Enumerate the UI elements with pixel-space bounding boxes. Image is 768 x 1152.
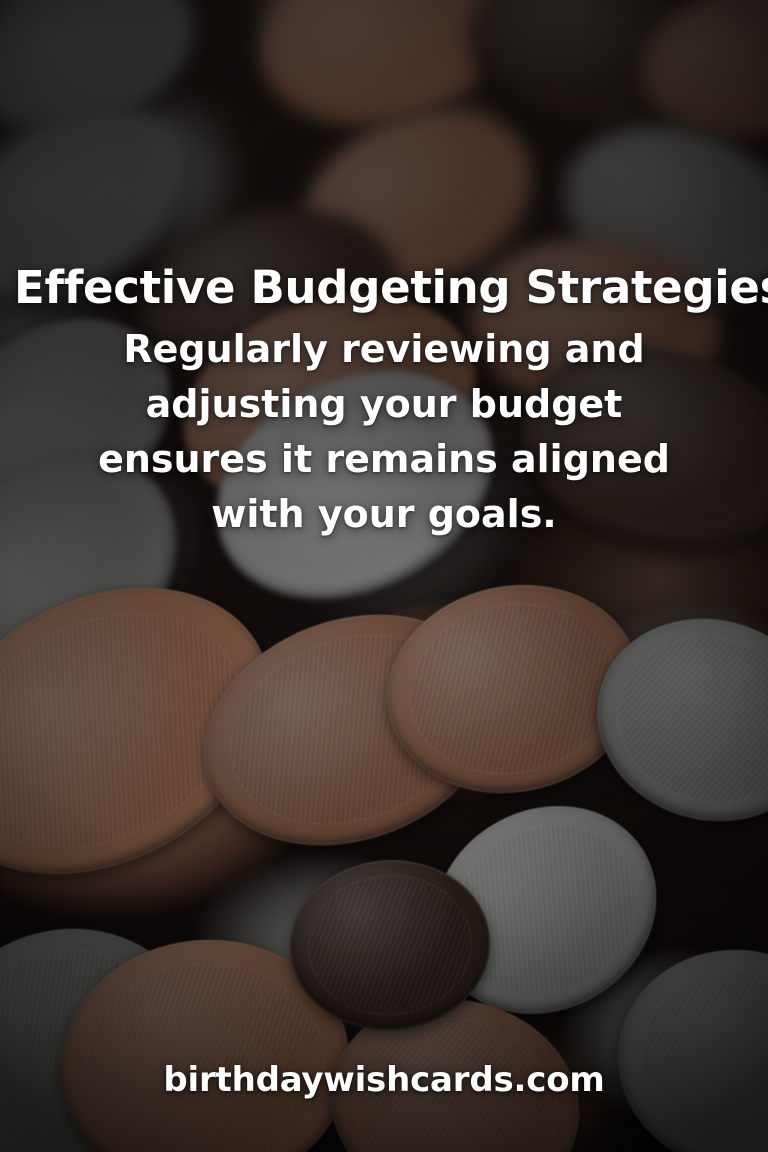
page-title: Effective Budgeting Strategies: [14, 262, 754, 314]
quote-text: Regularly reviewing and adjusting your b…: [84, 322, 684, 542]
site-url: birthdaywishcards.com: [0, 1060, 768, 1100]
headline-block: Effective Budgeting Strategies Regularly…: [0, 262, 768, 542]
text-overlay: Effective Budgeting Strategies Regularly…: [0, 0, 768, 1152]
pin-card: Effective Budgeting Strategies Regularly…: [0, 0, 768, 1152]
footer-block: birthdaywishcards.com: [0, 1060, 768, 1100]
